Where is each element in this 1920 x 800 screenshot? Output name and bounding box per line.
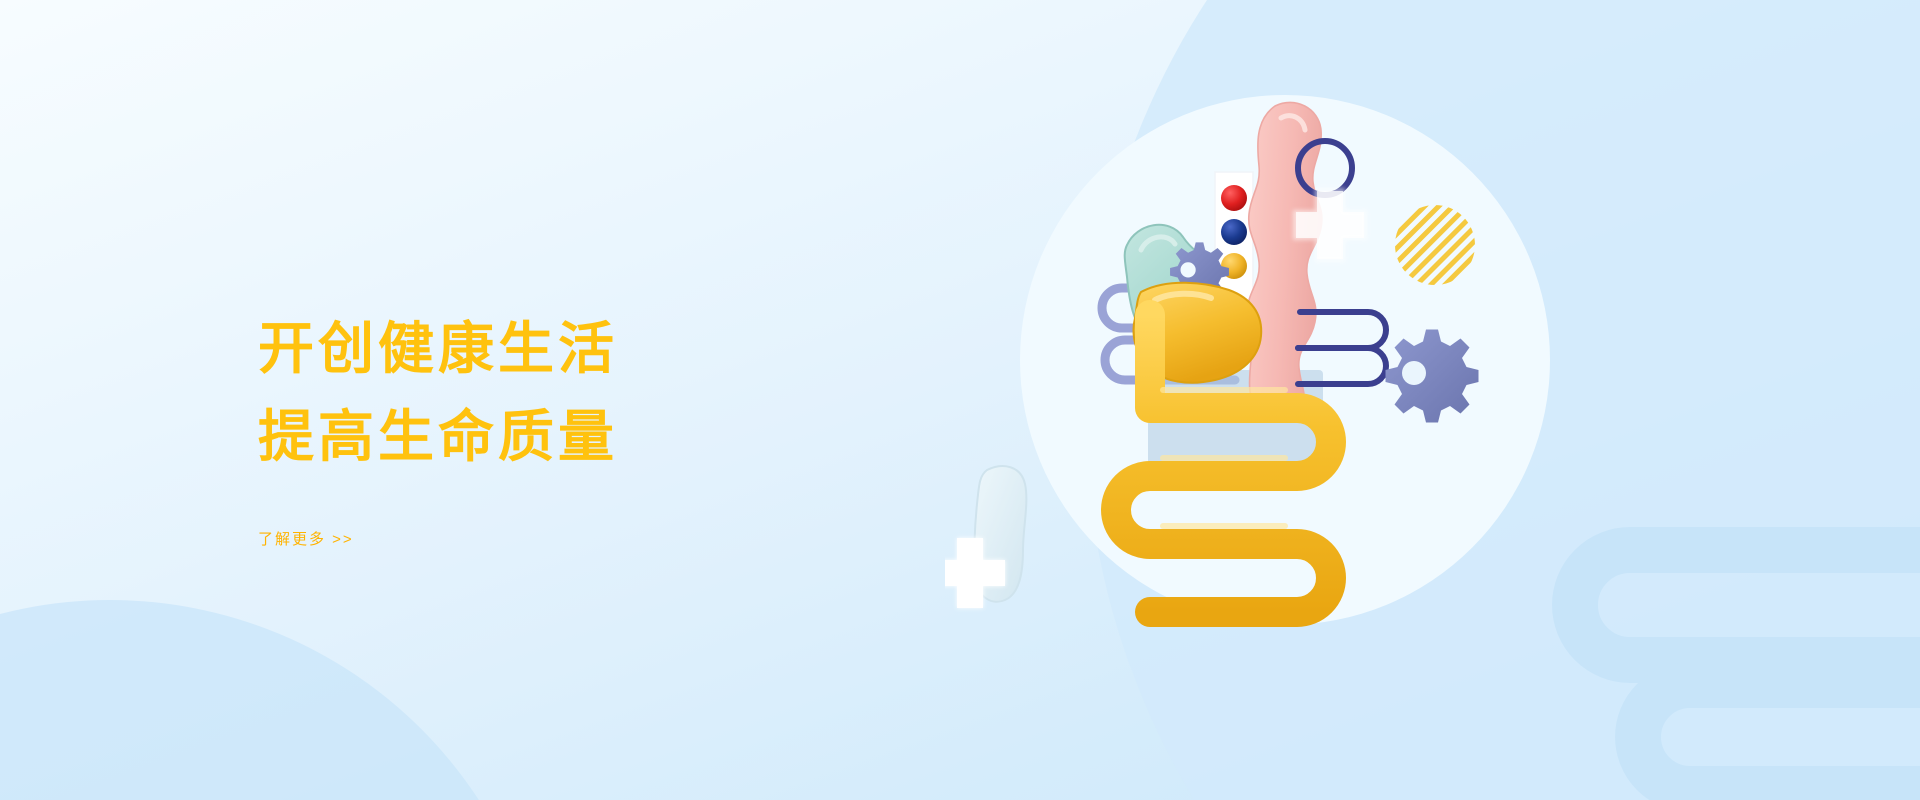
headline-line-1: 开创健康生活 <box>258 305 818 393</box>
sample-dot-red-icon <box>1221 185 1247 211</box>
sample-dot-navy-icon <box>1221 219 1247 245</box>
hero-banner: 开创健康生活 提高生命质量 了解更多 >> <box>0 0 1920 800</box>
learn-more-link[interactable]: 了解更多 >> <box>258 528 354 549</box>
banner-copy: 开创健康生活 提高生命质量 了解更多 >> <box>258 305 818 549</box>
digestive-system-illustration <box>945 60 1625 740</box>
striped-circle-icon <box>1395 205 1475 285</box>
gear-large-icon <box>1386 330 1479 423</box>
background-circle-left <box>0 600 550 800</box>
headline-line-2: 提高生命质量 <box>258 393 818 481</box>
